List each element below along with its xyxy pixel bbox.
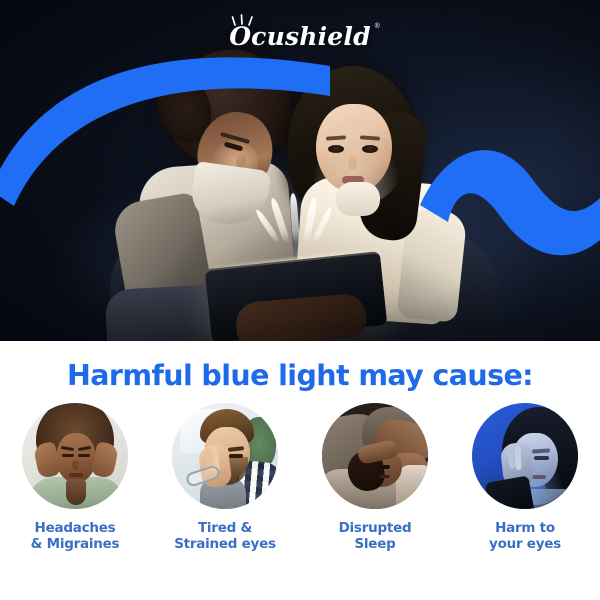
man-eye — [229, 454, 243, 458]
person-finger — [514, 446, 521, 470]
woman-mouth — [69, 473, 83, 477]
symptom-label-eye-harm: Harm to your eyes — [489, 520, 561, 552]
effects-section: Harmful blue light may cause: — [0, 341, 600, 600]
woman-eye-right — [78, 454, 90, 457]
symptom-image-tired-eyes — [172, 403, 278, 509]
symptom-label-disrupted-sleep: Disrupted Sleep — [339, 520, 412, 552]
person-mouth — [532, 475, 546, 479]
woman-eye-left — [62, 454, 74, 457]
symptom-card-disrupted-sleep[interactable]: Disrupted Sleep — [300, 403, 450, 552]
symptom-image-disrupted-sleep — [322, 403, 428, 509]
symptom-image-headaches — [22, 403, 128, 509]
woman-nose — [72, 460, 79, 470]
person-eye — [534, 456, 549, 460]
page-title: Harmful blue light may cause: — [0, 359, 600, 392]
symptom-card-eye-harm[interactable]: Harm to your eyes — [450, 403, 600, 552]
symptom-label-headaches: Headaches & Migraines — [31, 520, 120, 552]
brand-logo[interactable]: Ocushield ® — [0, 22, 600, 51]
wave-left-shape — [0, 57, 330, 206]
symptom-card-headaches[interactable]: Headaches & Migraines — [0, 403, 150, 552]
logo-wordmark: Ocushield — [229, 22, 371, 51]
sun-rays-icon — [231, 13, 257, 26]
hero-banner: Ocushield ® — [0, 0, 600, 341]
symptom-card-list: Headaches & Migraines — [0, 403, 600, 552]
ocushield-infographic: Ocushield ® Harmful blue light may cause… — [0, 0, 600, 600]
registered-trademark-mark: ® — [375, 23, 380, 30]
wave-decorations — [0, 0, 600, 341]
sleeper-mouth — [380, 475, 390, 478]
sleeper-eye — [378, 465, 390, 469]
logo-wrapper: Ocushield ® — [229, 22, 371, 51]
symptom-image-eye-harm — [472, 403, 578, 509]
woman-neckline — [66, 479, 86, 505]
symptom-card-tired-eyes[interactable]: Tired & Strained eyes — [150, 403, 300, 552]
wave-right-shape — [420, 150, 600, 255]
symptom-label-tired-eyes: Tired & Strained eyes — [174, 520, 276, 552]
